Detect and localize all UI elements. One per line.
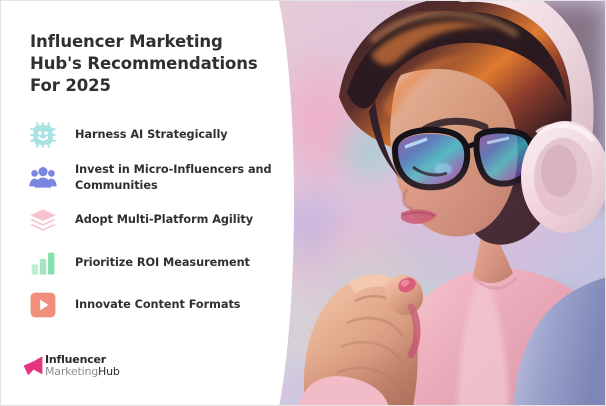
list-item-label: Harness AI Strategically <box>75 127 228 143</box>
hero-photo <box>251 1 606 406</box>
list-item[interactable]: Adopt Multi-Platform Agility <box>28 199 278 242</box>
page-title-line-2: Hub's Recommendations <box>30 54 258 73</box>
layers-stack-icon <box>28 205 58 235</box>
page-title-line-3: For 2025 <box>30 76 111 95</box>
list-item[interactable]: Invest in Micro-Influencers and Communit… <box>28 157 278 200</box>
play-button-icon <box>28 290 58 320</box>
list-item-label: Innovate Content Formats <box>75 297 240 313</box>
recommendations-list: Harness AI Strategically <box>28 114 278 327</box>
pink-arrow-mark <box>23 354 43 378</box>
list-item[interactable]: Harness AI Strategically <box>28 114 278 157</box>
page-title: Influencer Marketing Hub's Recommendatio… <box>30 31 262 97</box>
logo-wordmark: Influencer MarketingHub <box>45 354 120 377</box>
bar-chart-icon <box>28 248 58 278</box>
logo-line-marketing: Marketing <box>45 365 98 378</box>
list-item-label: Adopt Multi-Platform Agility <box>75 212 253 228</box>
page-title-line-1: Influencer Marketing <box>30 32 223 51</box>
content-panel: Influencer Marketing Hub's Recommendatio… <box>1 1 281 406</box>
brand-logo[interactable]: Influencer MarketingHub <box>23 354 120 378</box>
slide-canvas: Influencer Marketing Hub's Recommendatio… <box>0 0 606 406</box>
people-group-icon <box>28 163 58 193</box>
list-item-label: Invest in Micro-Influencers and Communit… <box>75 162 278 194</box>
ai-chip-smiley-icon <box>28 120 58 150</box>
logo-line-hub: Hub <box>98 365 120 378</box>
list-item[interactable]: Prioritize ROI Measurement <box>28 242 278 285</box>
list-item[interactable]: Innovate Content Formats <box>28 284 278 327</box>
list-item-label: Prioritize ROI Measurement <box>75 255 250 271</box>
